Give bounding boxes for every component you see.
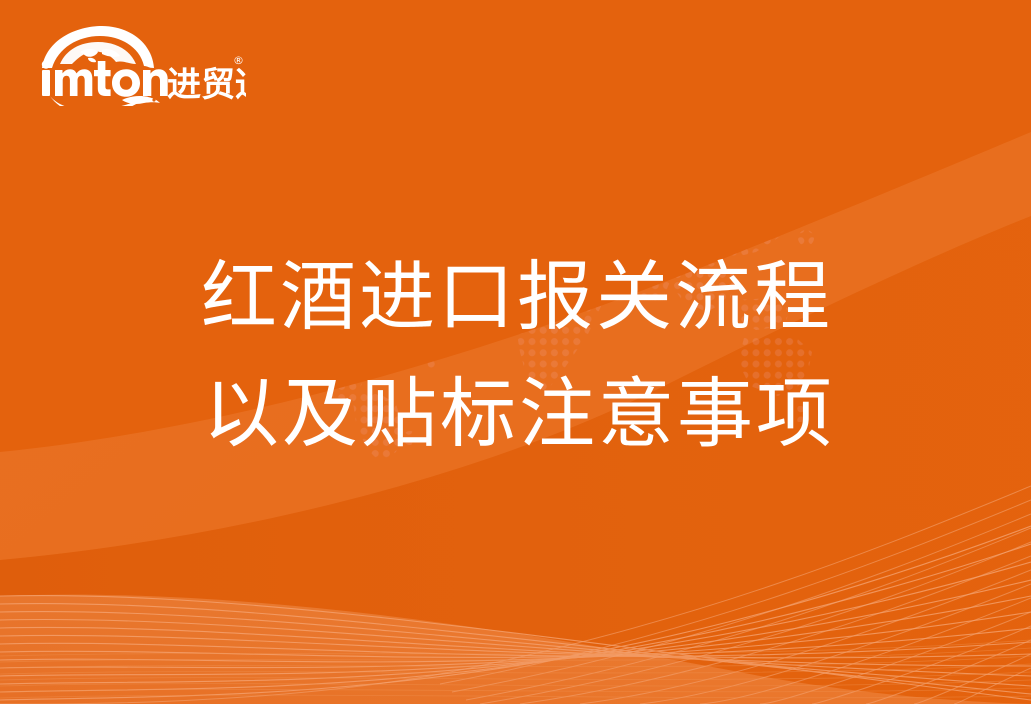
registered-mark: ® xyxy=(233,54,244,67)
brand-logo[interactable]: 进贸通 ® xyxy=(36,24,246,106)
title-line-2: 以及贴标注意事项 xyxy=(4,355,1031,472)
slide-canvas: 进贸通 ® 红酒进口报关流程 以及贴标注意事项 xyxy=(0,0,1031,704)
slide-title: 红酒进口报关流程 以及贴标注意事项 xyxy=(0,238,1031,472)
title-line-1: 红酒进口报关流程 xyxy=(0,238,1031,355)
brand-chinese-text: 进贸通 xyxy=(167,65,246,105)
swoosh-icon xyxy=(50,96,160,106)
